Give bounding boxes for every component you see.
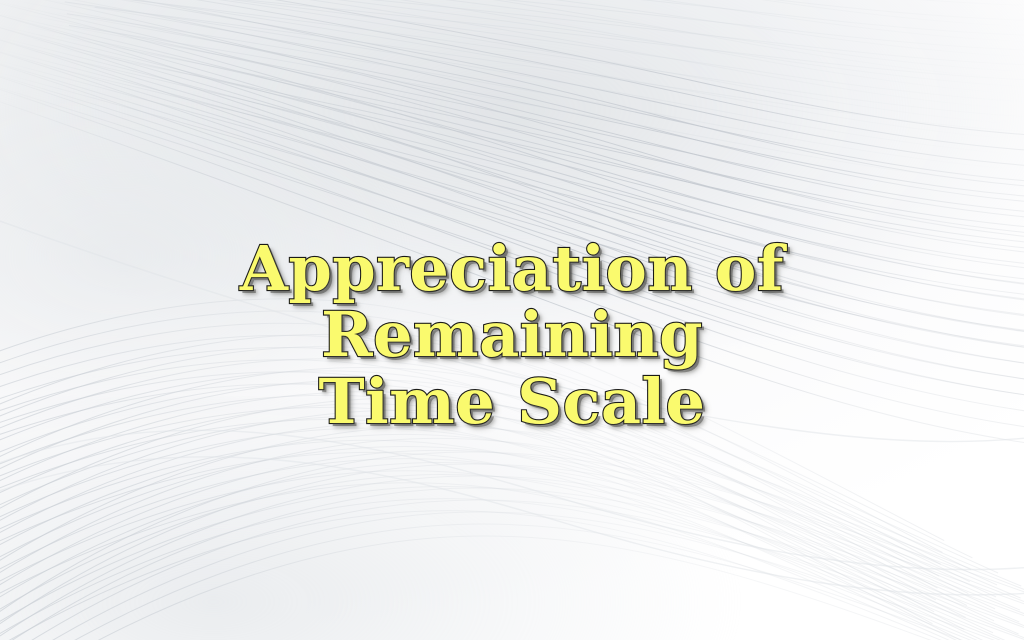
title-line-2: Time Scale xyxy=(62,369,962,435)
title-block: Appreciation of Remaining Time Scale xyxy=(0,236,1024,435)
title-line-1: Appreciation of Remaining xyxy=(240,232,784,371)
featured-image-banner: Appreciation of Remaining Time Scale xyxy=(0,0,1024,640)
page-title: Appreciation of Remaining Time Scale xyxy=(62,236,962,435)
